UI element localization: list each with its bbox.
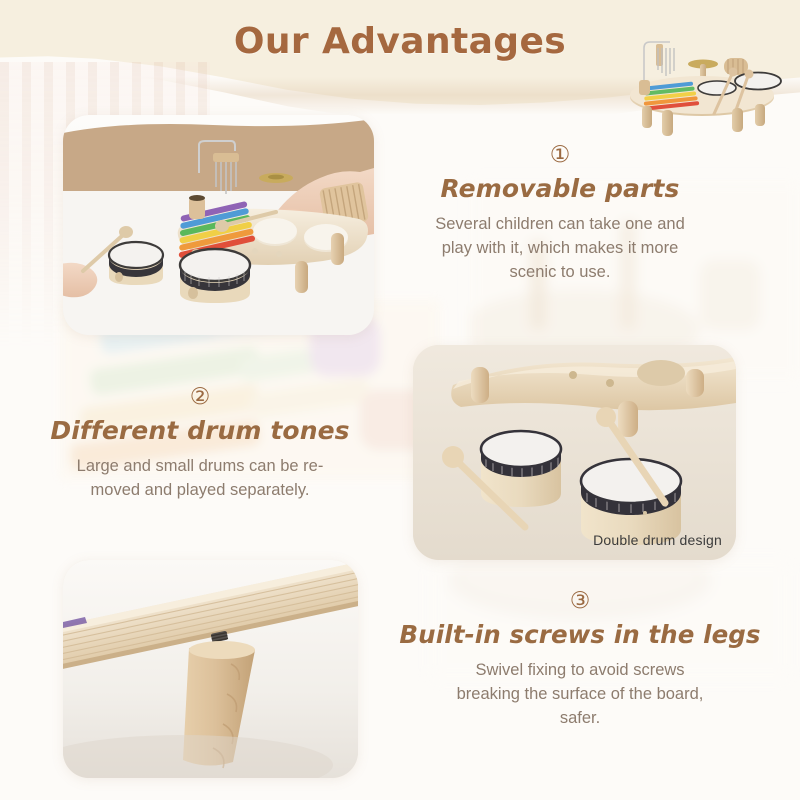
advantage-description-1: Several children can take one and play w… — [378, 213, 742, 285]
photo-caption: Double drum design — [593, 532, 722, 548]
advantage-description-2: Large and small drums can be re- moved a… — [18, 455, 382, 503]
advantage-heading-3: Built-in screws in the legs — [378, 620, 782, 649]
photo-removable-parts — [63, 115, 374, 335]
advantage-heading-2: Different drum tones — [18, 416, 382, 445]
step-number-1: ① — [378, 144, 742, 167]
advantage-heading-1: Removable parts — [378, 174, 742, 203]
advantage-description-3: Swivel fixing to avoid screws breaking t… — [378, 659, 782, 731]
advantage-block-2: ② Different drum tones Large and small d… — [18, 386, 382, 503]
photo-leg-screw — [63, 560, 358, 778]
hero-product-image — [612, 18, 792, 136]
step-number-2: ② — [18, 386, 382, 409]
advantage-block-3: ③ Built-in screws in the legs Swivel fix… — [378, 590, 782, 731]
infographic-page: Our Advantages — [0, 0, 800, 800]
step-number-3: ③ — [378, 590, 782, 613]
photo-double-drums: Double drum design — [413, 345, 736, 560]
advantage-block-1: ① Removable parts Several children can t… — [378, 144, 742, 285]
